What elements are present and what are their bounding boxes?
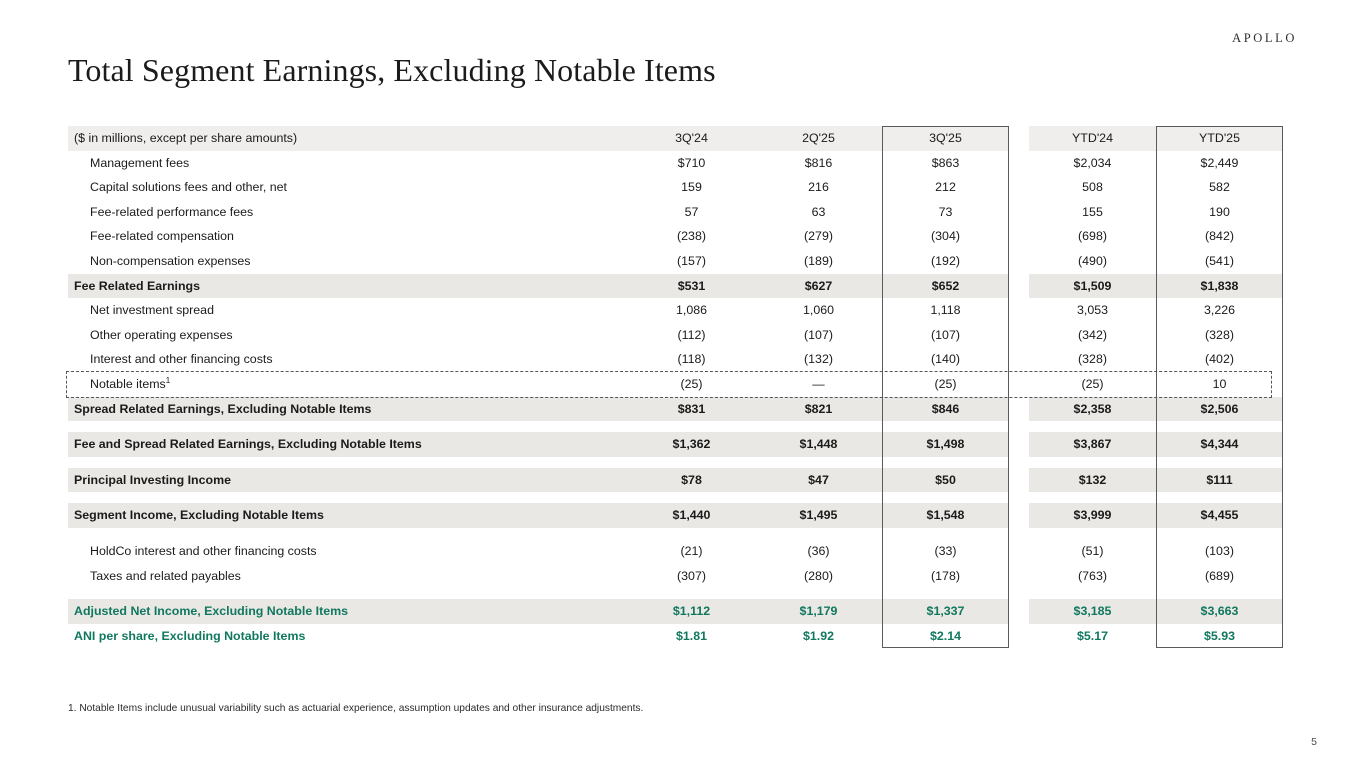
cell-ytd24: $3,999 [1029, 503, 1156, 528]
cell-ytd25: $4,455 [1156, 503, 1283, 528]
cell-2q25: $1,495 [755, 503, 882, 528]
table-row: ANI per share, Excluding Notable Items$1… [68, 624, 1283, 649]
table-row: Interest and other financing costs(118)(… [68, 347, 1283, 372]
cell-ytd25: $111 [1156, 468, 1283, 493]
cell-3q24: (118) [628, 347, 755, 372]
cell-ytd25: $5.93 [1156, 624, 1283, 649]
column-gap [1009, 564, 1029, 589]
row-label: Interest and other financing costs [68, 347, 628, 372]
cell-3q25: (304) [882, 224, 1009, 249]
cell-ytd24: $3,185 [1029, 599, 1156, 624]
cell-3q25: (140) [882, 347, 1009, 372]
table-row: Fee Related Earnings$531$627$652$1,509$1… [68, 274, 1283, 299]
cell-2q25: 1,060 [755, 298, 882, 323]
cell-ytd25: 10 [1156, 372, 1283, 397]
cell-2q25: 2Q'25 [755, 126, 882, 151]
table-body: ($ in millions, except per share amounts… [68, 126, 1283, 648]
cell-ytd25: (402) [1156, 347, 1283, 372]
table-row: Management fees$710$816$863$2,034$2,449 [68, 151, 1283, 176]
table-row: Fee and Spread Related Earnings, Excludi… [68, 432, 1283, 457]
column-gap [1009, 347, 1029, 372]
row-label: Segment Income, Excluding Notable Items [68, 503, 628, 528]
column-gap [1009, 503, 1029, 528]
cell-3q25: $1,337 [882, 599, 1009, 624]
cell-2q25: (189) [755, 249, 882, 274]
cell-ytd25: (328) [1156, 323, 1283, 348]
row-spacer [68, 528, 1283, 539]
column-gap [1009, 249, 1029, 274]
cell-2q25: (279) [755, 224, 882, 249]
cell-3q24: 1,086 [628, 298, 755, 323]
row-label: Other operating expenses [68, 323, 628, 348]
row-label: Management fees [68, 151, 628, 176]
row-label: Adjusted Net Income, Excluding Notable I… [68, 599, 628, 624]
table-row: Fee-related performance fees576373155190 [68, 200, 1283, 225]
cell-ytd25: (103) [1156, 539, 1283, 564]
cell-3q24: $710 [628, 151, 755, 176]
cell-ytd25: $1,838 [1156, 274, 1283, 299]
table-row: Notable items1(25)—(25)(25)10 [68, 372, 1283, 397]
row-label: Fee Related Earnings [68, 274, 628, 299]
column-gap [1009, 397, 1029, 422]
column-gap [1009, 372, 1029, 397]
cell-ytd24: 155 [1029, 200, 1156, 225]
cell-ytd24: 3,053 [1029, 298, 1156, 323]
table-row: Segment Income, Excluding Notable Items$… [68, 503, 1283, 528]
cell-3q24: (238) [628, 224, 755, 249]
cell-3q24: 57 [628, 200, 755, 225]
cell-2q25: $821 [755, 397, 882, 422]
table-row: Taxes and related payables(307)(280)(178… [68, 564, 1283, 589]
cell-3q25: $652 [882, 274, 1009, 299]
footnote: 1. Notable Items include unusual variabi… [68, 703, 643, 714]
cell-ytd24: (25) [1029, 372, 1156, 397]
cell-2q25: (36) [755, 539, 882, 564]
column-gap [1009, 151, 1029, 176]
table-row: Spread Related Earnings, Excluding Notab… [68, 397, 1283, 422]
cell-ytd24: 508 [1029, 175, 1156, 200]
cell-3q24: $1,440 [628, 503, 755, 528]
cell-3q24: $831 [628, 397, 755, 422]
row-label: Fee-related performance fees [68, 200, 628, 225]
table-row: Non-compensation expenses(157)(189)(192)… [68, 249, 1283, 274]
page-title: Total Segment Earnings, Excluding Notabl… [68, 52, 716, 89]
cell-3q25: $2.14 [882, 624, 1009, 649]
column-gap [1009, 468, 1029, 493]
column-gap [1009, 539, 1029, 564]
cell-ytd25: $3,663 [1156, 599, 1283, 624]
column-gap [1009, 224, 1029, 249]
cell-3q25: (192) [882, 249, 1009, 274]
cell-3q25: 1,118 [882, 298, 1009, 323]
cell-ytd24: (763) [1029, 564, 1156, 589]
cell-2q25: 216 [755, 175, 882, 200]
cell-3q24: (307) [628, 564, 755, 589]
cell-ytd25: 3,226 [1156, 298, 1283, 323]
cell-3q25: $846 [882, 397, 1009, 422]
slide-root: APOLLO Total Segment Earnings, Excluding… [0, 0, 1365, 768]
cell-3q25: $1,498 [882, 432, 1009, 457]
row-label: Capital solutions fees and other, net [68, 175, 628, 200]
column-gap [1009, 126, 1029, 151]
cell-3q25: (25) [882, 372, 1009, 397]
cell-ytd24: $3,867 [1029, 432, 1156, 457]
cell-ytd25: $4,344 [1156, 432, 1283, 457]
table-row: Net investment spread1,0861,0601,1183,05… [68, 298, 1283, 323]
cell-3q25: (107) [882, 323, 1009, 348]
row-spacer [68, 588, 1283, 599]
cell-ytd24: (490) [1029, 249, 1156, 274]
cell-ytd24: $2,358 [1029, 397, 1156, 422]
cell-ytd25: (541) [1156, 249, 1283, 274]
row-label: Taxes and related payables [68, 564, 628, 589]
cell-2q25: $1.92 [755, 624, 882, 649]
footnote-marker: 1 [166, 376, 170, 385]
row-label: Non-compensation expenses [68, 249, 628, 274]
row-spacer [68, 492, 1283, 503]
cell-2q25: $627 [755, 274, 882, 299]
cell-ytd24: (342) [1029, 323, 1156, 348]
cell-ytd25: 190 [1156, 200, 1283, 225]
cell-2q25: 63 [755, 200, 882, 225]
cell-2q25: — [755, 372, 882, 397]
cell-2q25: $1,179 [755, 599, 882, 624]
cell-3q24: (157) [628, 249, 755, 274]
row-label: Notable items1 [68, 372, 628, 397]
table-units-label: ($ in millions, except per share amounts… [68, 126, 628, 151]
cell-3q25: (178) [882, 564, 1009, 589]
apollo-logo: APOLLO [1232, 31, 1297, 46]
cell-3q24: $1,362 [628, 432, 755, 457]
page-number: 5 [1311, 736, 1317, 748]
column-gap [1009, 200, 1029, 225]
cell-3q25: 73 [882, 200, 1009, 225]
cell-3q24: (21) [628, 539, 755, 564]
table-row: Adjusted Net Income, Excluding Notable I… [68, 599, 1283, 624]
column-gap [1009, 624, 1029, 649]
cell-2q25: (280) [755, 564, 882, 589]
cell-3q24: (112) [628, 323, 755, 348]
row-label: Net investment spread [68, 298, 628, 323]
table-row: Other operating expenses(112)(107)(107)(… [68, 323, 1283, 348]
cell-ytd25: 582 [1156, 175, 1283, 200]
cell-ytd25: (689) [1156, 564, 1283, 589]
cell-3q24: $1,112 [628, 599, 755, 624]
table-row: Fee-related compensation(238)(279)(304)(… [68, 224, 1283, 249]
column-gap [1009, 298, 1029, 323]
row-label: ANI per share, Excluding Notable Items [68, 624, 628, 649]
table-row: HoldCo interest and other financing cost… [68, 539, 1283, 564]
row-label: Principal Investing Income [68, 468, 628, 493]
row-spacer [68, 457, 1283, 468]
cell-ytd25: $2,449 [1156, 151, 1283, 176]
table-row: Principal Investing Income$78$47$50$132$… [68, 468, 1283, 493]
column-gap [1009, 323, 1029, 348]
table-row: Capital solutions fees and other, net159… [68, 175, 1283, 200]
row-label: Spread Related Earnings, Excluding Notab… [68, 397, 628, 422]
column-gap [1009, 274, 1029, 299]
cell-3q24: 159 [628, 175, 755, 200]
column-gap [1009, 599, 1029, 624]
cell-ytd24: (51) [1029, 539, 1156, 564]
cell-2q25: (132) [755, 347, 882, 372]
cell-3q25: $1,548 [882, 503, 1009, 528]
cell-ytd24: $132 [1029, 468, 1156, 493]
cell-ytd24: $2,034 [1029, 151, 1156, 176]
cell-ytd25: $2,506 [1156, 397, 1283, 422]
cell-2q25: $1,448 [755, 432, 882, 457]
cell-3q24: $1.81 [628, 624, 755, 649]
cell-3q24: $531 [628, 274, 755, 299]
row-label: Fee-related compensation [68, 224, 628, 249]
cell-ytd24: YTD'24 [1029, 126, 1156, 151]
cell-3q24: $78 [628, 468, 755, 493]
cell-3q25: $50 [882, 468, 1009, 493]
cell-3q24: (25) [628, 372, 755, 397]
row-label: Fee and Spread Related Earnings, Excludi… [68, 432, 628, 457]
cell-ytd24: (698) [1029, 224, 1156, 249]
cell-3q25: 3Q'25 [882, 126, 1009, 151]
row-label: HoldCo interest and other financing cost… [68, 539, 628, 564]
column-gap [1009, 432, 1029, 457]
cell-ytd24: (328) [1029, 347, 1156, 372]
cell-ytd25: (842) [1156, 224, 1283, 249]
column-gap [1009, 175, 1029, 200]
segment-earnings-table: ($ in millions, except per share amounts… [68, 126, 1283, 648]
cell-3q24: 3Q'24 [628, 126, 755, 151]
table-header-row: ($ in millions, except per share amounts… [68, 126, 1283, 151]
cell-ytd24: $5.17 [1029, 624, 1156, 649]
cell-3q25: $863 [882, 151, 1009, 176]
cell-2q25: $47 [755, 468, 882, 493]
row-spacer [68, 421, 1283, 432]
financial-table-container: ($ in millions, except per share amounts… [68, 126, 1270, 648]
cell-3q25: (33) [882, 539, 1009, 564]
cell-ytd25: YTD'25 [1156, 126, 1283, 151]
cell-2q25: $816 [755, 151, 882, 176]
cell-3q25: 212 [882, 175, 1009, 200]
cell-2q25: (107) [755, 323, 882, 348]
cell-ytd24: $1,509 [1029, 274, 1156, 299]
